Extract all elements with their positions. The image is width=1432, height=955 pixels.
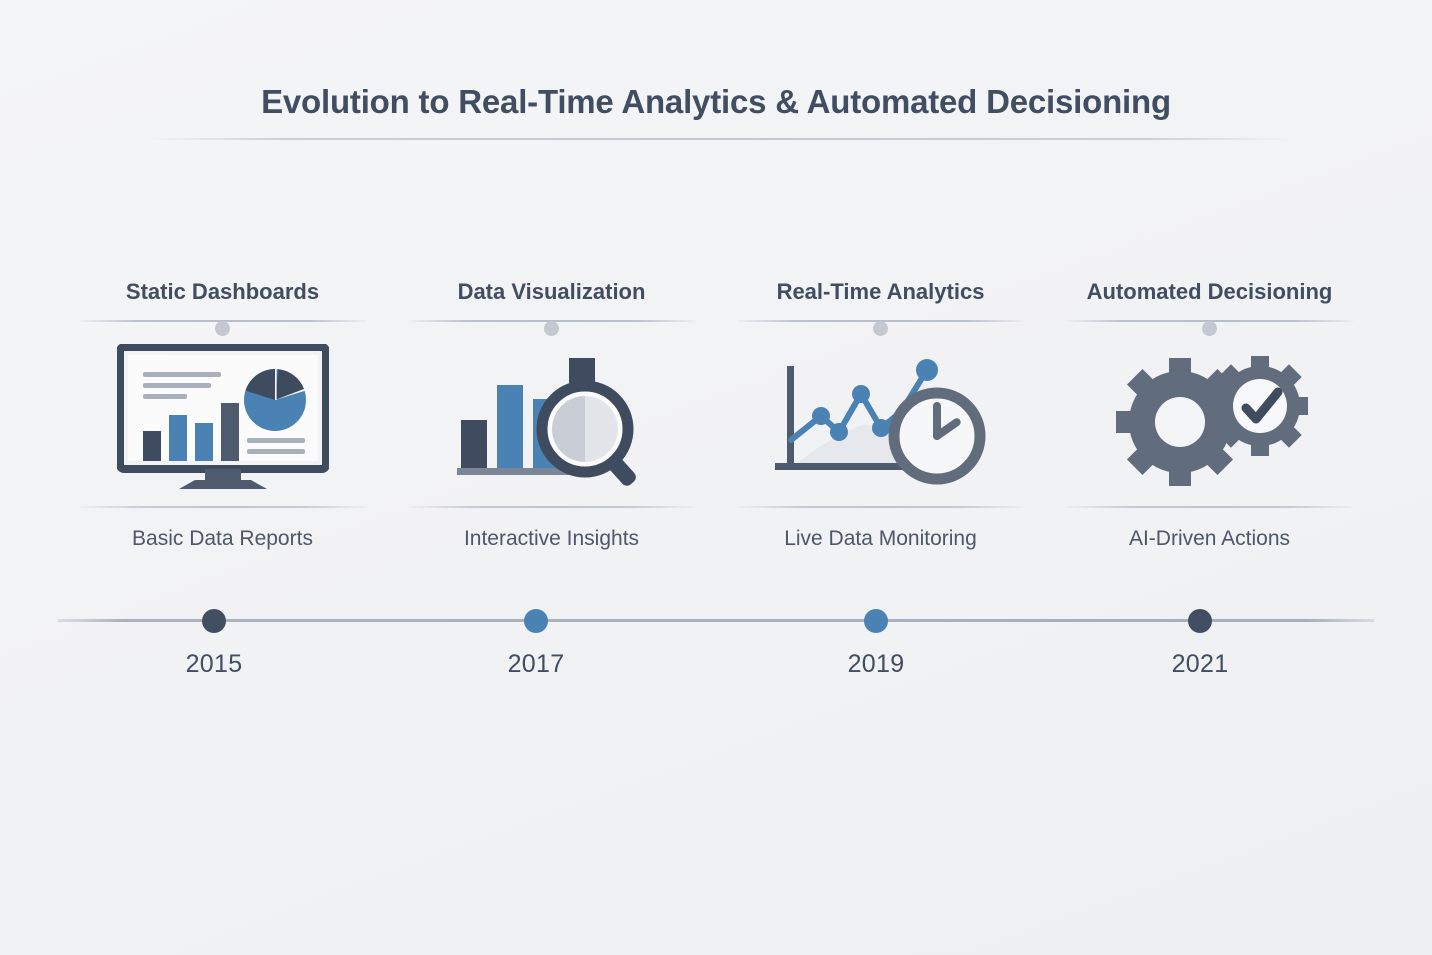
timeline-point-2019[interactable]: 2019 xyxy=(816,614,936,679)
timeline-dot xyxy=(1188,609,1212,633)
stage-caption: AI-Driven Actions xyxy=(1129,527,1290,551)
timeline-year-label: 2017 xyxy=(476,650,596,679)
timeline-dot xyxy=(202,609,226,633)
stage-caption: Live Data Monitoring xyxy=(784,527,977,551)
stage-node-dot xyxy=(544,321,559,336)
stage-title-divider xyxy=(1067,320,1353,322)
timeline-year-label: 2015 xyxy=(154,650,274,679)
stage-node-dot xyxy=(215,321,230,336)
stage-title-divider xyxy=(738,320,1024,322)
stage-caption: Basic Data Reports xyxy=(132,527,313,551)
stage-caption: Interactive Insights xyxy=(464,527,639,551)
caption-divider xyxy=(1067,506,1353,508)
page-title: Evolution to Real-Time Analytics & Autom… xyxy=(0,82,1432,122)
timeline-dot xyxy=(524,609,548,633)
stage-card-data-visualization[interactable]: Data Visualization xyxy=(387,278,716,551)
stage-title: Real-Time Analytics xyxy=(777,278,985,306)
stage-row: Static Dashboards xyxy=(58,278,1374,551)
timeline-dot xyxy=(864,609,888,633)
timeline-point-2021[interactable]: 2021 xyxy=(1140,614,1260,679)
timeline-point-2015[interactable]: 2015 xyxy=(154,614,274,679)
caption-divider xyxy=(80,506,366,508)
gears-checkmark-icon xyxy=(1080,344,1340,490)
caption-divider xyxy=(409,506,695,508)
stage-title: Automated Decisioning xyxy=(1087,278,1333,306)
line-chart-clock-icon xyxy=(751,344,1011,490)
stage-card-static-dashboards[interactable]: Static Dashboards xyxy=(58,278,387,551)
infographic-canvas: Evolution to Real-Time Analytics & Autom… xyxy=(0,0,1432,955)
title-block: Evolution to Real-Time Analytics & Autom… xyxy=(0,82,1432,140)
stage-card-real-time-analytics[interactable]: Real-Time Analytics xyxy=(716,278,1045,551)
title-divider xyxy=(144,138,1289,140)
stage-node-dot xyxy=(873,321,888,336)
stage-card-automated-decisioning[interactable]: Automated Decisioning xyxy=(1045,278,1374,551)
timeline: 2015 2017 2019 2021 xyxy=(58,614,1374,694)
stage-title: Data Visualization xyxy=(458,278,646,306)
monitor-dashboard-icon xyxy=(93,344,353,490)
timeline-point-2017[interactable]: 2017 xyxy=(476,614,596,679)
stage-title-divider xyxy=(80,320,366,322)
timeline-year-label: 2021 xyxy=(1140,650,1260,679)
caption-divider xyxy=(738,506,1024,508)
bar-chart-magnifier-icon xyxy=(422,344,682,490)
stage-node-dot xyxy=(1202,321,1217,336)
timeline-year-label: 2019 xyxy=(816,650,936,679)
stage-title-divider xyxy=(409,320,695,322)
stage-title: Static Dashboards xyxy=(126,278,319,306)
